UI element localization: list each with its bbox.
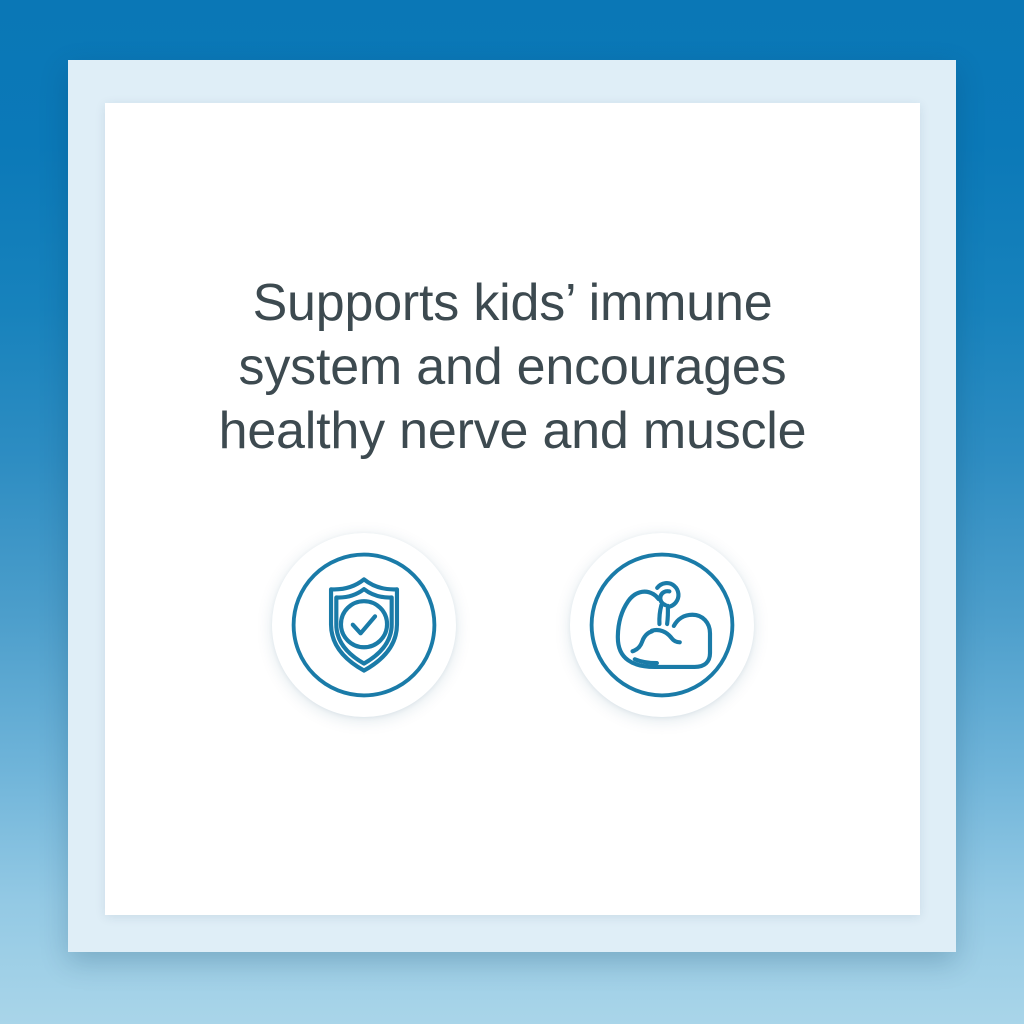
headline-line-2: system and encourages xyxy=(105,335,920,399)
headline: Supports kids’ immune system and encoura… xyxy=(105,271,920,463)
benefit-icon-row xyxy=(105,533,920,717)
shield-check-badge xyxy=(272,533,456,717)
headline-line-1: Supports kids’ immune xyxy=(105,271,920,335)
flexed-bicep-badge xyxy=(570,533,754,717)
flexed-bicep-icon xyxy=(582,545,742,705)
outer-frame: Supports kids’ immune system and encoura… xyxy=(68,60,956,952)
promo-card-stage: Supports kids’ immune system and encoura… xyxy=(0,0,1024,1024)
headline-line-3: healthy nerve and muscle xyxy=(105,399,920,463)
shield-check-icon xyxy=(284,545,444,705)
inner-white-panel: Supports kids’ immune system and encoura… xyxy=(105,103,920,915)
